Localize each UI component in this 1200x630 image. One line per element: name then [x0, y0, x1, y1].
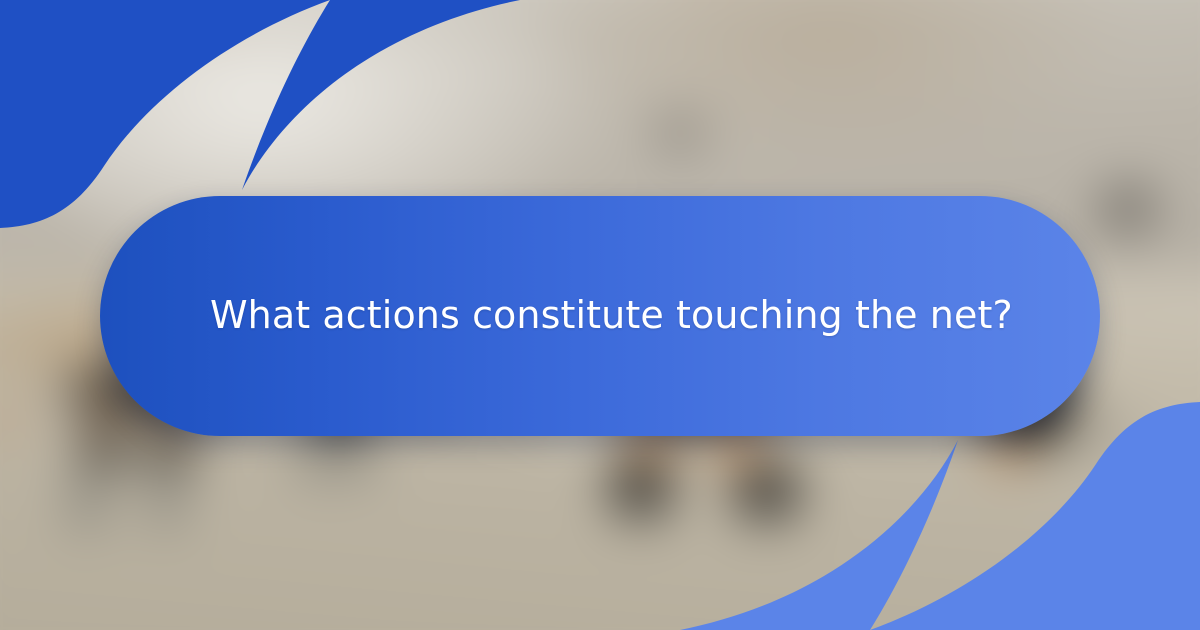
floor-shadow [70, 480, 106, 528]
floor-shadow [340, 438, 372, 478]
question-card: What actions constitute touching the net… [100, 196, 1100, 436]
question-text: What actions constitute touching the net… [210, 292, 1013, 340]
ceiling-fixture [202, 2, 228, 24]
player-leg [992, 432, 1026, 472]
player-silhouette [0, 410, 24, 436]
floor-shadow [298, 438, 330, 478]
floor-shadow [150, 480, 184, 526]
background-blur-shape [656, 116, 702, 150]
player-shoe [612, 458, 670, 516]
player-shoe [148, 428, 192, 468]
background-blur-shape [1104, 186, 1152, 230]
ceiling-beam [0, 113, 1200, 118]
ceiling-beam [0, 23, 1200, 28]
player-shoe [736, 464, 798, 518]
player-shoe [82, 428, 126, 468]
floor-shadow [1098, 410, 1128, 464]
court-line [0, 525, 1200, 528]
poster-canvas: What actions constitute touching the net… [0, 0, 1200, 630]
